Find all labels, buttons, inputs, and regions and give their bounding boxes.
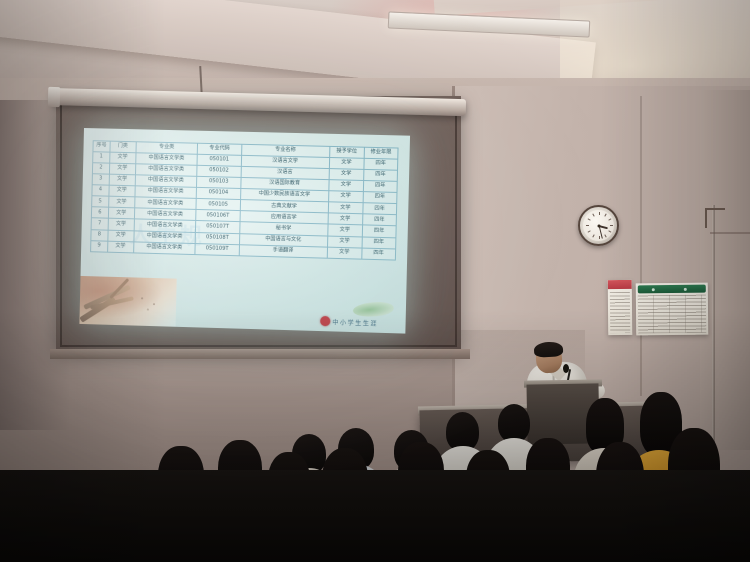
cell-degree: 文学	[327, 236, 362, 248]
cell-sequence: 6	[91, 207, 108, 219]
cell-degree: 文学	[328, 180, 363, 192]
wall-seam	[640, 96, 642, 396]
green-header-notice-board	[636, 283, 709, 336]
roller-end-cap	[48, 87, 61, 107]
cell-major-class: 中国语言文学类	[133, 242, 195, 255]
cell-sequence: 4	[92, 185, 109, 197]
cell-degree: 文学	[328, 202, 363, 214]
cell-category: 文学	[109, 152, 135, 164]
logo-text: 中小学生生涯	[332, 317, 378, 327]
logo-leaf-icon	[352, 301, 394, 319]
cell-sequence: 8	[91, 229, 108, 241]
classroom-photo: 人生规 序号 门类 专业类 专业代码 专业名称 授予学位 修业年限 1文学中国语…	[0, 0, 750, 562]
chalk-rail	[50, 349, 470, 359]
cell-duration: 四年	[363, 169, 397, 181]
cell-sequence: 1	[93, 151, 110, 163]
poster-column-dividers	[638, 295, 706, 334]
far-right-wall	[700, 90, 750, 450]
th-degree: 授予学位	[329, 146, 364, 158]
cell-duration: 四年	[362, 237, 396, 249]
presenter-hair	[534, 341, 564, 357]
cell-major-name: 手语翻译	[239, 244, 327, 258]
cell-category: 文学	[107, 241, 133, 253]
cell-sequence: 5	[92, 196, 109, 208]
th-duration: 修业年限	[364, 147, 398, 159]
cell-degree: 文学	[327, 247, 362, 259]
poster-text-lines	[610, 292, 630, 333]
wall-pipe	[712, 205, 715, 455]
calligraphy-brush-illustration	[79, 276, 176, 327]
slide-logo: 中小学生生涯	[320, 301, 400, 330]
cell-degree: 文学	[329, 168, 364, 180]
cell-sequence: 3	[92, 174, 109, 186]
red-header-notice-board	[608, 280, 633, 335]
cell-degree: 文学	[327, 224, 362, 236]
cell-duration: 四年	[361, 248, 395, 260]
table-body: 1文学中国语言文学类050101汉语言文学文学四年2文学中国语言文学类05010…	[91, 151, 398, 259]
projection-screen[interactable]: 人生规 序号 门类 专业类 专业代码 专业名称 授予学位 修业年限 1文学中国语…	[79, 128, 410, 334]
cell-sequence: 9	[91, 240, 108, 252]
cell-major-code: 050109T	[195, 243, 239, 255]
th-category: 门类	[110, 141, 136, 152]
microphone	[563, 364, 569, 373]
logo-circle-icon	[320, 316, 330, 326]
cell-duration: 四年	[363, 180, 397, 192]
wall-clock	[578, 205, 619, 246]
cell-category: 文学	[107, 230, 133, 242]
cell-category: 文学	[108, 207, 134, 219]
cell-category: 文学	[109, 163, 135, 175]
cell-duration: 四年	[363, 203, 397, 215]
cell-category: 文学	[108, 196, 134, 208]
cell-duration: 四年	[362, 225, 396, 237]
cell-duration: 四年	[364, 158, 398, 170]
cell-sequence: 2	[92, 163, 109, 175]
poster-red-header	[608, 280, 632, 289]
clock-face	[583, 210, 614, 241]
th-sequence: 序号	[93, 141, 110, 152]
poster-green-header	[638, 285, 706, 294]
majors-table: 序号 门类 专业类 专业代码 专业名称 授予学位 修业年限 1文学中国语言文学类…	[90, 140, 398, 260]
pipe-bracket	[705, 208, 725, 228]
cell-category: 文学	[109, 174, 135, 186]
cell-degree: 文学	[328, 191, 363, 203]
floor	[0, 470, 750, 562]
cell-category: 文学	[108, 219, 134, 231]
cell-degree: 文学	[328, 213, 363, 225]
cell-duration: 四年	[362, 214, 396, 226]
slide-table-wrapper: 序号 门类 专业类 专业代码 专业名称 授予学位 修业年限 1文学中国语言文学类…	[90, 140, 398, 260]
cell-sequence: 7	[91, 218, 108, 230]
cell-duration: 四年	[363, 192, 397, 204]
cell-degree: 文学	[329, 157, 364, 169]
cell-category: 文学	[109, 185, 135, 197]
wall-trim-line	[710, 232, 750, 234]
student-head	[498, 404, 530, 442]
brush-strokes	[79, 276, 176, 327]
clock-center-pin	[597, 224, 600, 227]
